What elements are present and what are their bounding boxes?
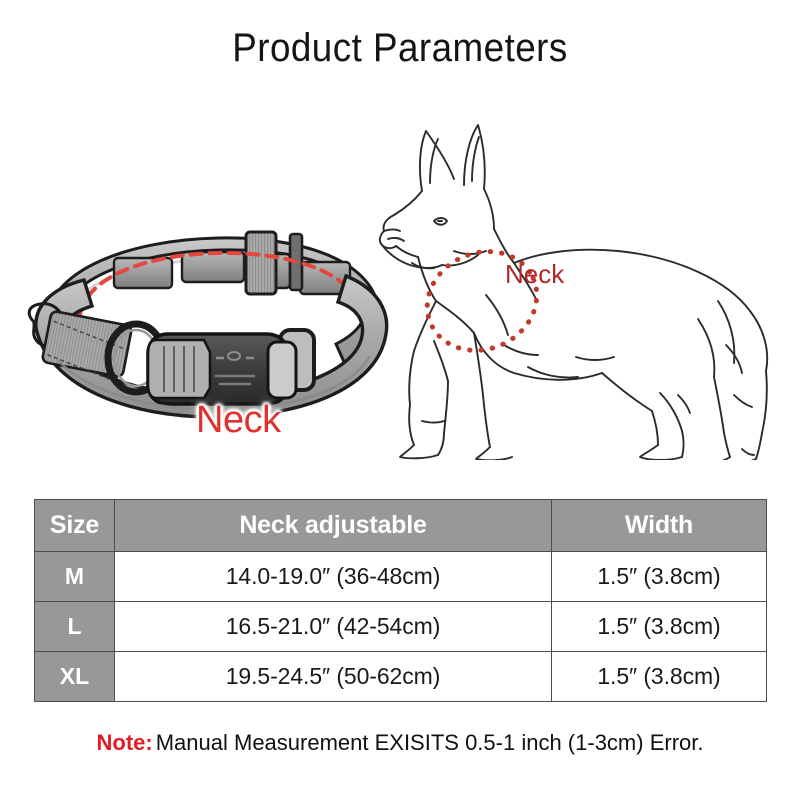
cell-neck: 19.5-24.5″ (50-62cm)	[115, 652, 552, 702]
collar-keeper-loop	[246, 232, 276, 294]
note-label: Note:	[97, 730, 153, 755]
table-row: L 16.5-21.0″ (42-54cm) 1.5″ (3.8cm)	[35, 602, 767, 652]
spec-table: Size Neck adjustable Width M 14.0-19.0″ …	[34, 499, 767, 702]
cell-neck: 16.5-21.0″ (42-54cm)	[115, 602, 552, 652]
spec-table-container: Size Neck adjustable Width M 14.0-19.0″ …	[34, 499, 766, 702]
column-header-width: Width	[552, 500, 767, 552]
table-header-row: Size Neck adjustable Width	[35, 500, 767, 552]
table-row: XL 19.5-24.5″ (50-62cm) 1.5″ (3.8cm)	[35, 652, 767, 702]
cell-size: XL	[35, 652, 115, 702]
cell-width: 1.5″ (3.8cm)	[552, 602, 767, 652]
cell-neck: 14.0-19.0″ (36-48cm)	[115, 552, 552, 602]
page-title: Product Parameters	[32, 26, 768, 70]
column-header-size: Size	[35, 500, 115, 552]
table-row: M 14.0-19.0″ (36-48cm) 1.5″ (3.8cm)	[35, 552, 767, 602]
column-header-neck: Neck adjustable	[115, 500, 552, 552]
cell-size: L	[35, 602, 115, 652]
note-text: Manual Measurement EXISITS 0.5-1 inch (1…	[156, 730, 704, 755]
cell-width: 1.5″ (3.8cm)	[552, 652, 767, 702]
cell-width: 1.5″ (3.8cm)	[552, 552, 767, 602]
collar-product-image	[18, 210, 398, 445]
note-line: Note:Manual Measurement EXISITS 0.5-1 in…	[0, 730, 800, 756]
dog-neck-label: Neck	[505, 259, 564, 290]
cell-size: M	[35, 552, 115, 602]
illustration-band: Neck	[0, 95, 800, 475]
dog-diagram	[378, 105, 796, 460]
